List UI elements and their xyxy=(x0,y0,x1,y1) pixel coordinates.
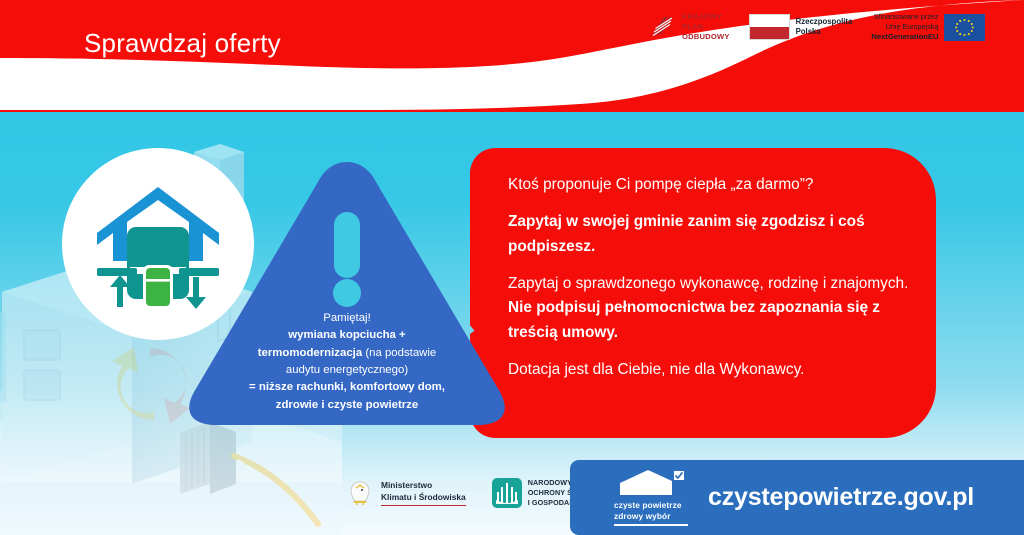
bubble-paragraph-4: Dotacja jest dla Ciebie, nie dla Wykonaw… xyxy=(508,358,912,382)
kpo-logo-text: Krajowy Plan Odbudowy xyxy=(682,12,730,42)
triangle-line-2: wymiana kopciucha + xyxy=(288,329,405,341)
bubble-p3-bold: Nie podpisuj pełnomocnictwa bez zapoznan… xyxy=(508,299,880,340)
triangle-line-6: zdrowie i czyste powietrze xyxy=(276,399,418,411)
eu-line-1: Sfinansowane przez xyxy=(871,12,938,22)
polish-eagle-icon xyxy=(345,479,375,507)
poland-flag-icon xyxy=(749,14,790,40)
kpo-mark-icon xyxy=(650,14,676,40)
exclamation-bar-icon xyxy=(334,212,360,278)
footer-bar: czyste powietrze zdrowy wybór czystepowi… xyxy=(570,460,1024,535)
headline: Sprawdzaj oferty i nie podpisuj od razu! xyxy=(84,28,428,99)
poland-line-2: Polska xyxy=(796,27,853,38)
eu-logo-text: Sfinansowane przez Unię Europejską NextG… xyxy=(871,12,938,43)
triangle-line-3-bold: termomodernizacja xyxy=(258,347,362,359)
top-logo-strip: Krajowy Plan Odbudowy Rzeczpospolita Pol… xyxy=(650,12,985,43)
eu-line-3: NextGenerationEU xyxy=(871,32,938,43)
czyste-powietrze-line-2: zdrowy wybór xyxy=(614,511,688,522)
triangle-line-1: Pamiętaj! xyxy=(196,310,498,327)
czyste-powietrze-underline xyxy=(614,524,688,526)
kpo-line-2: Plan xyxy=(682,22,730,32)
bubble-p3-normal: Zapytaj o sprawdzonego wykonawcę, rodzin… xyxy=(508,275,908,292)
triangle-line-4: audytu energetycznego) xyxy=(286,364,408,376)
ministry-logo-text: Ministerstwo Klimatu i Środowiska xyxy=(381,480,466,506)
czyste-powietrze-logo: czyste powietrze zdrowy wybór xyxy=(614,469,688,526)
header-banner: Sprawdzaj oferty i nie podpisuj od razu!… xyxy=(0,0,1024,112)
speech-bubble: Ktoś proponuje Ci pompę ciepła „za darmo… xyxy=(470,148,936,438)
ministry-line-1: Ministerstwo xyxy=(381,480,466,492)
exclamation-dot-icon xyxy=(333,279,361,307)
triangle-line-5: = niższe rachunki, komfortowy dom, xyxy=(249,381,445,393)
czyste-powietrze-house-icon xyxy=(614,469,688,495)
triangle-line-3-normal: (na podstawie xyxy=(362,347,436,359)
krajowy-plan-odbudowy-logo: Krajowy Plan Odbudowy xyxy=(650,12,730,42)
next-generation-eu-logo: Sfinansowane przez Unię Europejską NextG… xyxy=(871,12,985,43)
warning-triangle-card: Pamiętaj! wymiana kopciucha + termomoder… xyxy=(182,160,512,425)
headline-line-2: i nie podpisuj od razu! xyxy=(84,61,428,99)
nfos-tree-icon xyxy=(492,478,522,508)
poland-logo-text: Rzeczpospolita Polska xyxy=(796,17,853,39)
ministry-line-2: Klimatu i Środowiska xyxy=(381,492,466,504)
warning-triangle-text: Pamiętaj! wymiana kopciucha + termomoder… xyxy=(182,310,512,414)
eu-flag-icon xyxy=(944,14,985,41)
bubble-paragraph-3: Zapytaj o sprawdzonego wykonawcę, rodzin… xyxy=(508,272,912,345)
ministry-logo: Ministerstwo Klimatu i Środowiska xyxy=(345,479,466,507)
bubble-paragraph-2: Zapytaj w swojej gminie zanim się zgodzi… xyxy=(508,210,912,259)
speech-bubble-text: Ktoś proponuje Ci pompę ciepła „za darmo… xyxy=(508,173,912,382)
campaign-poster: Sprawdzaj oferty i nie podpisuj od razu!… xyxy=(0,0,1024,535)
poland-line-1: Rzeczpospolita xyxy=(796,17,853,28)
kpo-line-1: Krajowy xyxy=(682,12,730,22)
eu-line-2: Unię Europejską xyxy=(871,22,938,32)
czyste-powietrze-line-1: czyste powietrze xyxy=(614,500,688,511)
website-url[interactable]: czystepowietrze.gov.pl xyxy=(708,483,974,512)
headline-line-1: Sprawdzaj oferty xyxy=(84,28,428,59)
rzeczpospolita-polska-logo: Rzeczpospolita Polska xyxy=(749,14,853,40)
kpo-line-3: Odbudowy xyxy=(682,32,730,42)
bubble-paragraph-1: Ktoś proponuje Ci pompę ciepła „za darmo… xyxy=(508,173,912,197)
